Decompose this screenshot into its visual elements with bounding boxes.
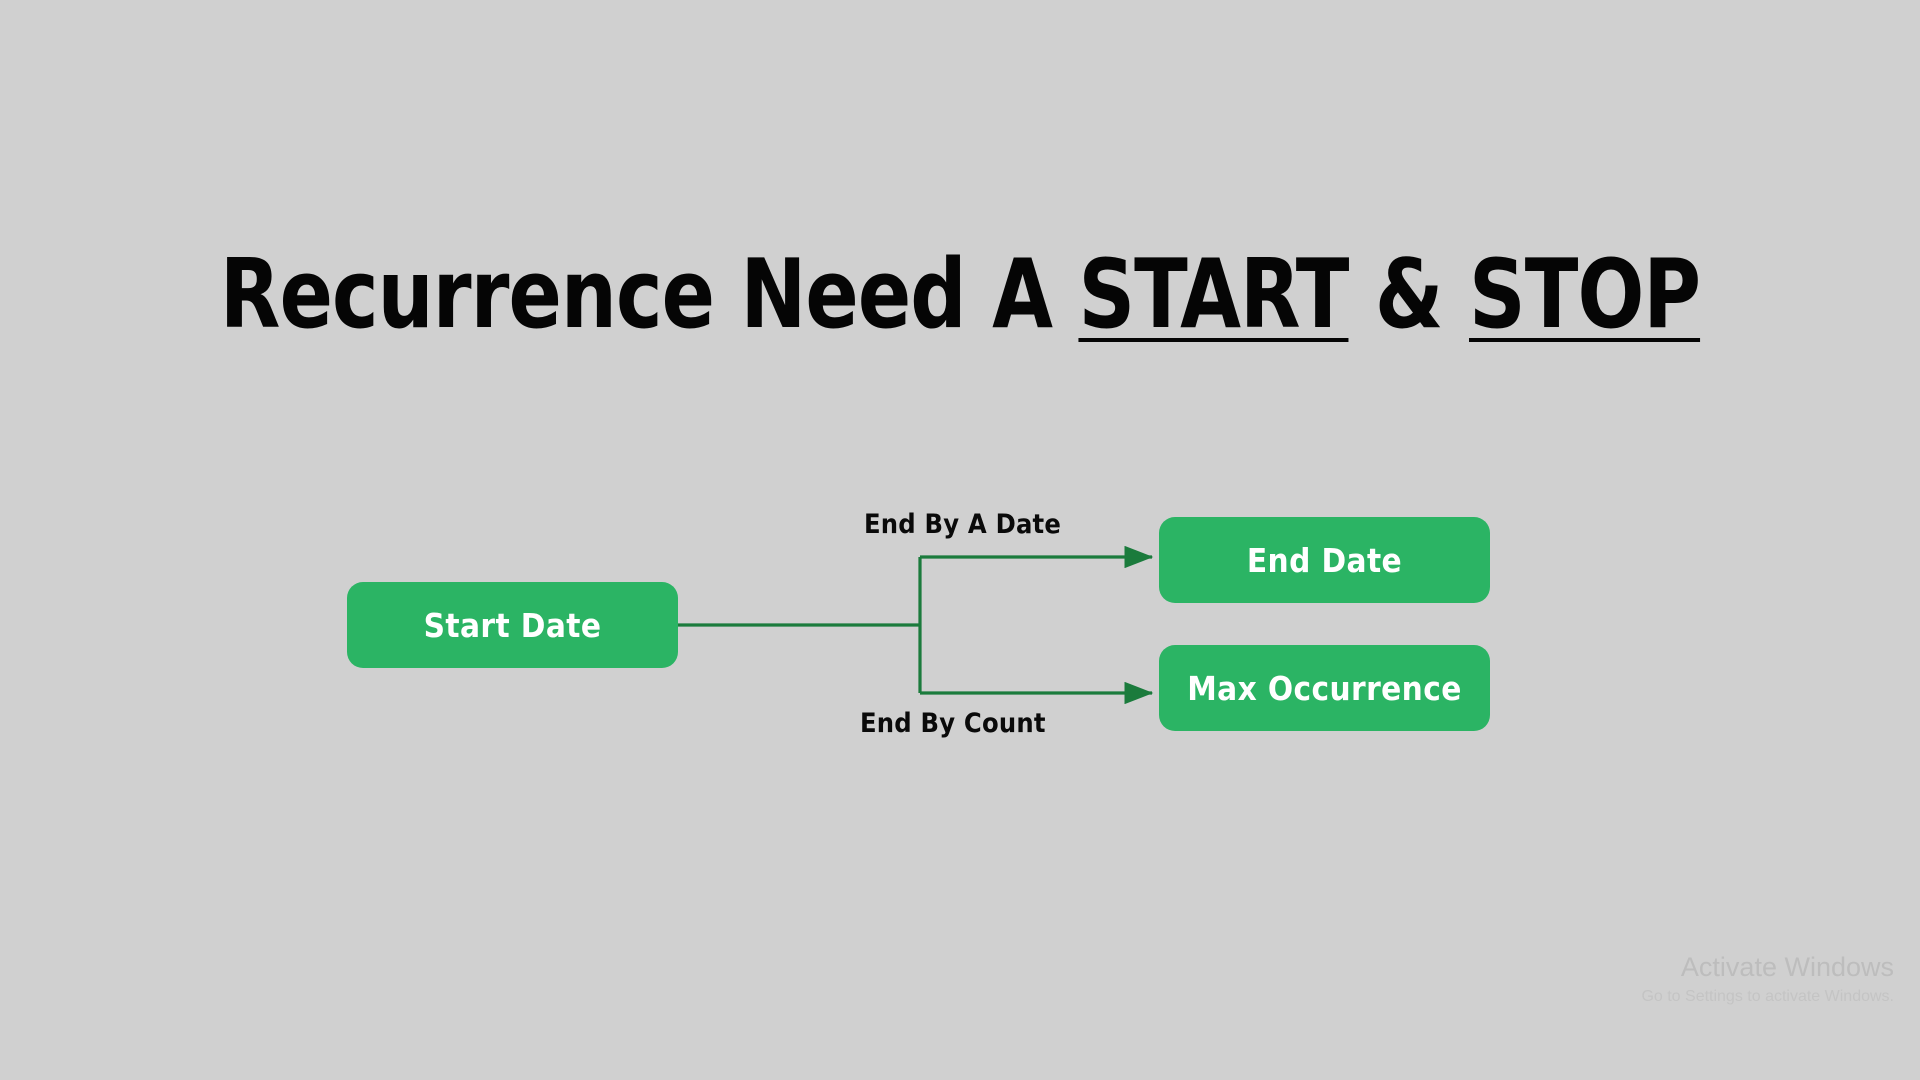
- watermark-subtitle: Go to Settings to activate Windows.: [1641, 987, 1894, 1008]
- node-end-date[interactable]: End Date: [1159, 517, 1490, 603]
- node-start-date[interactable]: Start Date: [347, 582, 678, 668]
- connector-lines: [0, 0, 1920, 1080]
- node-end-date-label: End Date: [1247, 541, 1402, 580]
- node-start-date-label: Start Date: [424, 606, 602, 645]
- node-max-occurrence[interactable]: Max Occurrence: [1159, 645, 1490, 731]
- windows-activation-watermark: Activate Windows Go to Settings to activ…: [1641, 951, 1894, 1008]
- watermark-title: Activate Windows: [1641, 951, 1894, 985]
- edge-label-end-by-count: End By Count: [860, 708, 1046, 739]
- flowchart-diagram: Start Date End Date Max Occurrence End B…: [0, 0, 1920, 1080]
- slide-canvas: Recurrence Need A START & STOP Start Dat…: [0, 0, 1920, 1080]
- node-max-occurrence-label: Max Occurrence: [1187, 669, 1462, 708]
- edge-label-end-by-a-date: End By A Date: [864, 509, 1061, 540]
